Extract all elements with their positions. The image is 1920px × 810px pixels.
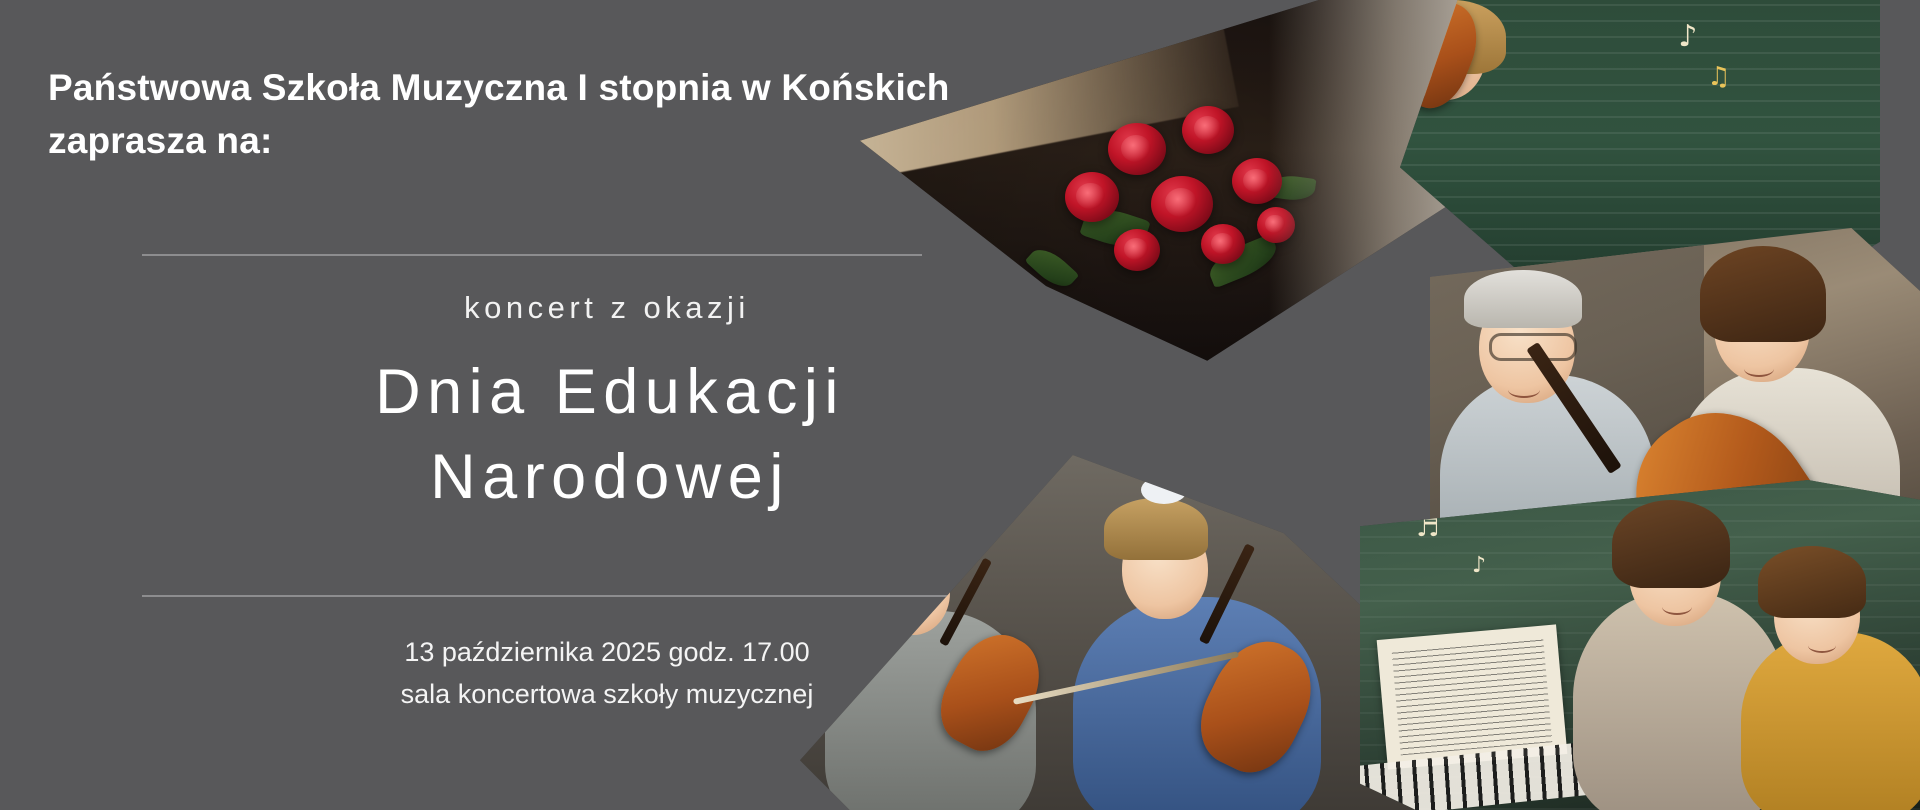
girl-figure	[1675, 368, 1900, 578]
event-title: Dnia Edukacji Narodowej	[130, 350, 1090, 520]
chalkboard-staff	[1400, 0, 1880, 310]
classroom-artwork: ♪ ♫ ♩	[1400, 0, 1880, 310]
music-note-icon: ♩	[1429, 43, 1440, 71]
girl-hair	[1758, 546, 1866, 618]
hair-bow	[1141, 476, 1187, 504]
sheet-music	[1377, 624, 1568, 769]
headline-line-2: zaprasza na:	[48, 115, 1328, 168]
teacher-hair	[1612, 500, 1730, 588]
cello-body	[1601, 380, 1859, 578]
cello-neck	[1526, 342, 1621, 474]
glasses-icon	[1489, 333, 1577, 361]
piano-lesson-artwork: ♬ ♪	[1360, 480, 1920, 810]
headline-line-1: Państwowa Szkoła Muzyczna I stopnia w Ko…	[48, 67, 950, 108]
cello-lesson-artwork	[1430, 228, 1920, 578]
divider-top	[142, 254, 922, 256]
child-hair	[1104, 498, 1208, 560]
piano-keys	[1360, 734, 1664, 810]
child-figure	[1073, 597, 1321, 810]
music-note-icon: ♪	[1678, 19, 1697, 54]
girl-figure	[1741, 632, 1920, 810]
grandmother-hair	[1464, 270, 1582, 328]
violin	[1185, 625, 1329, 786]
grandmother-face	[1479, 291, 1575, 403]
child-hair	[862, 530, 950, 576]
event-title-line-1: Dnia Edukacji	[375, 357, 845, 427]
girl-face	[1714, 270, 1810, 382]
photo-two-children-with-violin: ♪ ♫ ♩	[1400, 0, 1880, 310]
divider-bottom	[142, 595, 1072, 597]
teacher-figure	[1573, 592, 1786, 810]
grandmother-figure	[1440, 375, 1656, 578]
photo-grandmother-and-girl-with-cello	[1430, 228, 1920, 578]
event-datetime: 13 października 2025 godz. 17.00	[404, 637, 809, 667]
concert-poster: Państwowa Szkoła Muzyczna I stopnia w Ko…	[0, 0, 1920, 810]
event-venue: sala koncertowa szkoły muzycznej	[142, 674, 1072, 716]
event-details: 13 października 2025 godz. 17.00 sala ko…	[142, 632, 1072, 716]
photo-teacher-and-girl-at-piano: ♬ ♪	[1360, 480, 1920, 810]
girl-hair	[1700, 246, 1826, 342]
music-note-icon: ♪	[1472, 553, 1486, 578]
occasion-label: koncert z okazji	[142, 290, 1072, 326]
event-title-line-2: Narodowej	[130, 435, 1090, 520]
page-title: Państwowa Szkoła Muzyczna I stopnia w Ko…	[48, 62, 1328, 167]
music-note-icon: ♫	[1707, 62, 1730, 92]
music-note-icon: ♬	[1416, 513, 1439, 543]
